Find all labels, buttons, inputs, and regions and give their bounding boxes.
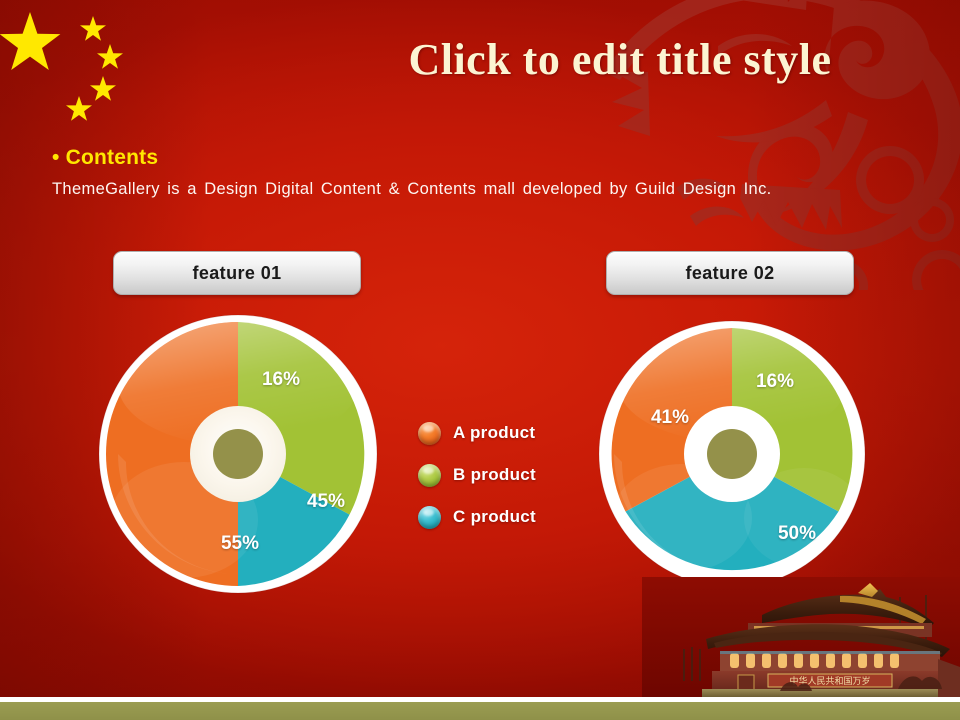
bullet-icon: • [52,146,60,169]
chart2-label-a-product: 41% [651,407,689,429]
page-title[interactable]: Click to edit title style [300,36,940,84]
flag-small-star-1 [80,16,106,41]
chart1-hub [213,429,263,479]
chart2-label-b-product: 16% [756,371,794,393]
contents-heading-label: Contents [66,146,159,169]
bottom-olive-band [0,702,960,720]
legend-item-a-product[interactable]: A product [418,412,578,454]
feature-01-button[interactable]: feature 01 [113,251,361,295]
chart2-label-c-product: 50% [778,523,816,545]
legend-item-b-product[interactable]: B product [418,454,578,496]
legend-label-a-product: A product [453,423,535,443]
flag-small-star-3 [90,76,116,101]
contents-heading: • Contents [52,146,158,170]
legend-dot-teal-icon [418,506,441,529]
chart2-hub [707,429,757,479]
legend-dot-green-icon [418,464,441,487]
flag-small-star-4 [66,96,92,121]
chart-legend: A product B product C product [418,412,578,538]
tiananmen-gate-photo: 中华人民共和国万岁 [642,577,960,697]
donut-chart-feature-01: 55% 16% 45% [88,312,388,596]
contents-body-text: ThemeGallery is a Design Digital Content… [52,180,932,199]
flag-big-star [0,12,60,70]
chinese-flag-stars [0,0,150,130]
chart1-label-c-product: 45% [307,491,345,513]
feature-02-button[interactable]: feature 02 [606,251,854,295]
chart1-label-b-product: 16% [262,369,300,391]
legend-dot-orange-icon [418,422,441,445]
legend-item-c-product[interactable]: C product [418,496,578,538]
presentation-slide: Click to edit title style • Contents The… [0,0,960,720]
legend-label-c-product: C product [453,507,536,527]
feature-01-label: feature 01 [192,263,281,284]
donut-chart-feature-02: 41% 16% 50% [590,312,874,596]
flag-small-star-2 [97,44,123,69]
feature-02-label: feature 02 [685,263,774,284]
chart1-label-a-product: 55% [221,533,259,555]
legend-label-b-product: B product [453,465,536,485]
